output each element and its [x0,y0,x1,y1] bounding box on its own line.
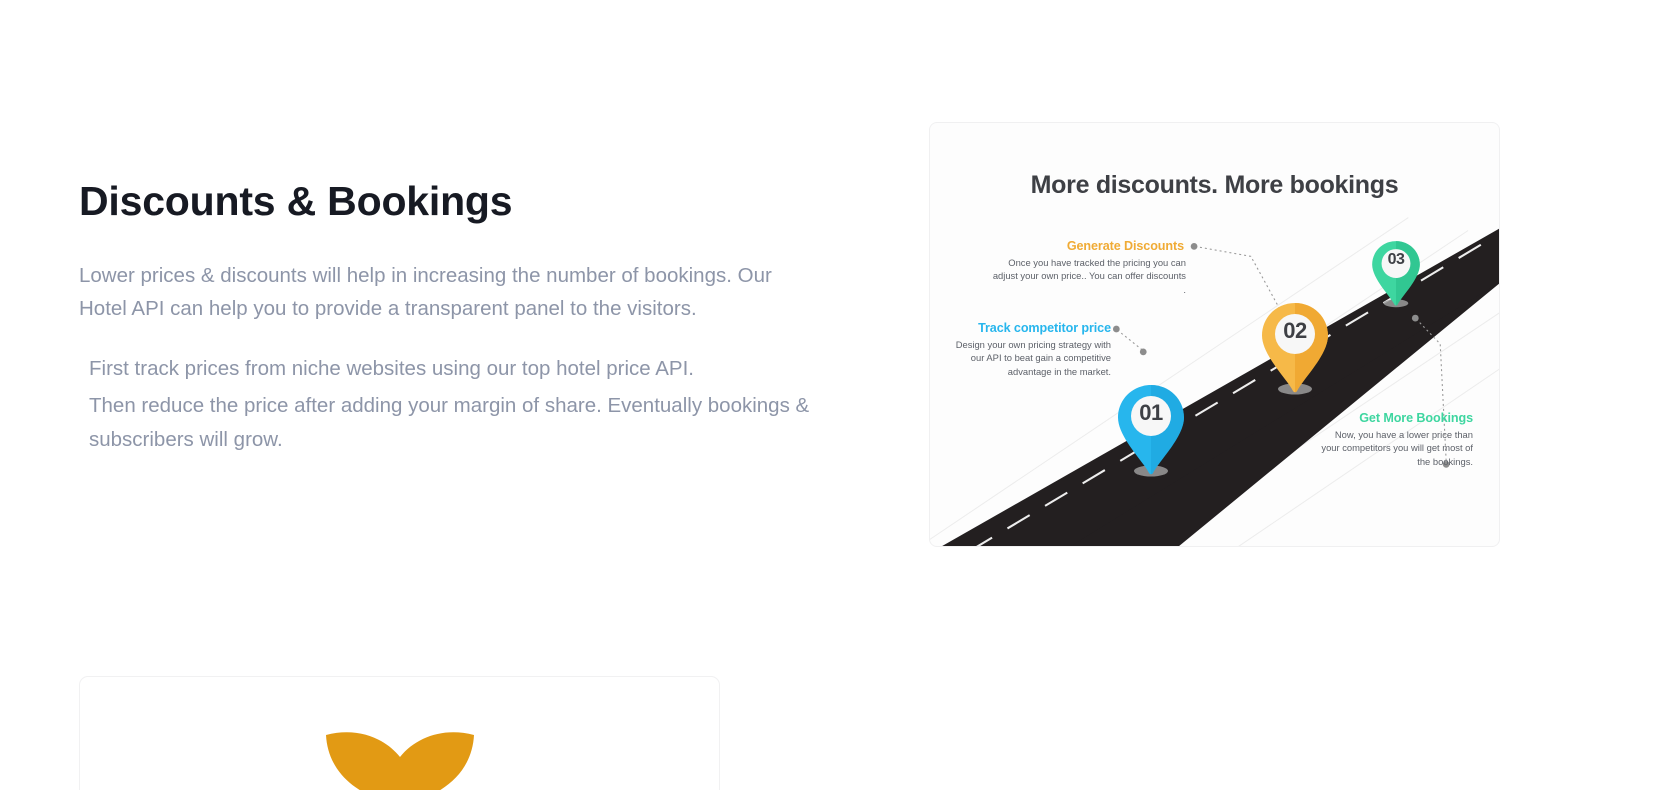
callout-body: Now, you have a lower price than your co… [1298,428,1473,468]
page-root: Discounts & Bookings Lower prices & disc… [0,0,1658,790]
callout-get-more-bookings: Get More Bookings Now, you have a lower … [1298,411,1473,468]
leader-dot-bookings-start [1412,315,1419,322]
callout-body: Once you have tracked the pricing you ca… [930,256,1186,296]
map-pin-01: 01 [1115,383,1187,478]
content-column: Discounts & Bookings Lower prices & disc… [79,178,839,461]
leader-dot-track-end [1140,349,1147,356]
map-pin-icon [1259,301,1331,396]
map-pin-icon [1370,239,1422,309]
leader-dot-track-start [1113,326,1120,333]
callout-title: Track competitor price [930,321,1111,335]
pin-number: 03 [1370,251,1422,269]
map-pin-03: 03 [1370,239,1422,309]
callout-body: Design your own pricing strategy with ou… [930,338,1111,378]
leader-dot-generate-start [1191,243,1198,250]
callout-title: Get More Bookings [1298,411,1473,425]
pin-number: 02 [1259,318,1331,344]
pin-number: 01 [1115,400,1187,426]
list-item: Then reduce the price after adding your … [79,389,824,458]
infographic-canvas: More discounts. More bookings [930,123,1499,546]
list-item: First track prices from niche websites u… [79,352,824,386]
bowtie-illustration-icon [322,727,478,790]
map-pin-icon [1115,383,1187,478]
leader-line-track [1117,330,1142,350]
map-pin-02: 02 [1259,301,1331,396]
lead-paragraph: Lower prices & discounts will help in in… [79,259,794,325]
feature-card [79,676,720,790]
callout-title: Generate Discounts [930,239,1186,253]
page-title: Discounts & Bookings [79,178,839,225]
benefits-list: First track prices from niche websites u… [79,352,839,458]
infographic-card: More discounts. More bookings [929,122,1500,547]
callout-track-competitor-price: Track competitor price Design your own p… [930,321,1111,378]
callout-generate-discounts: Generate Discounts Once you have tracked… [930,239,1186,296]
